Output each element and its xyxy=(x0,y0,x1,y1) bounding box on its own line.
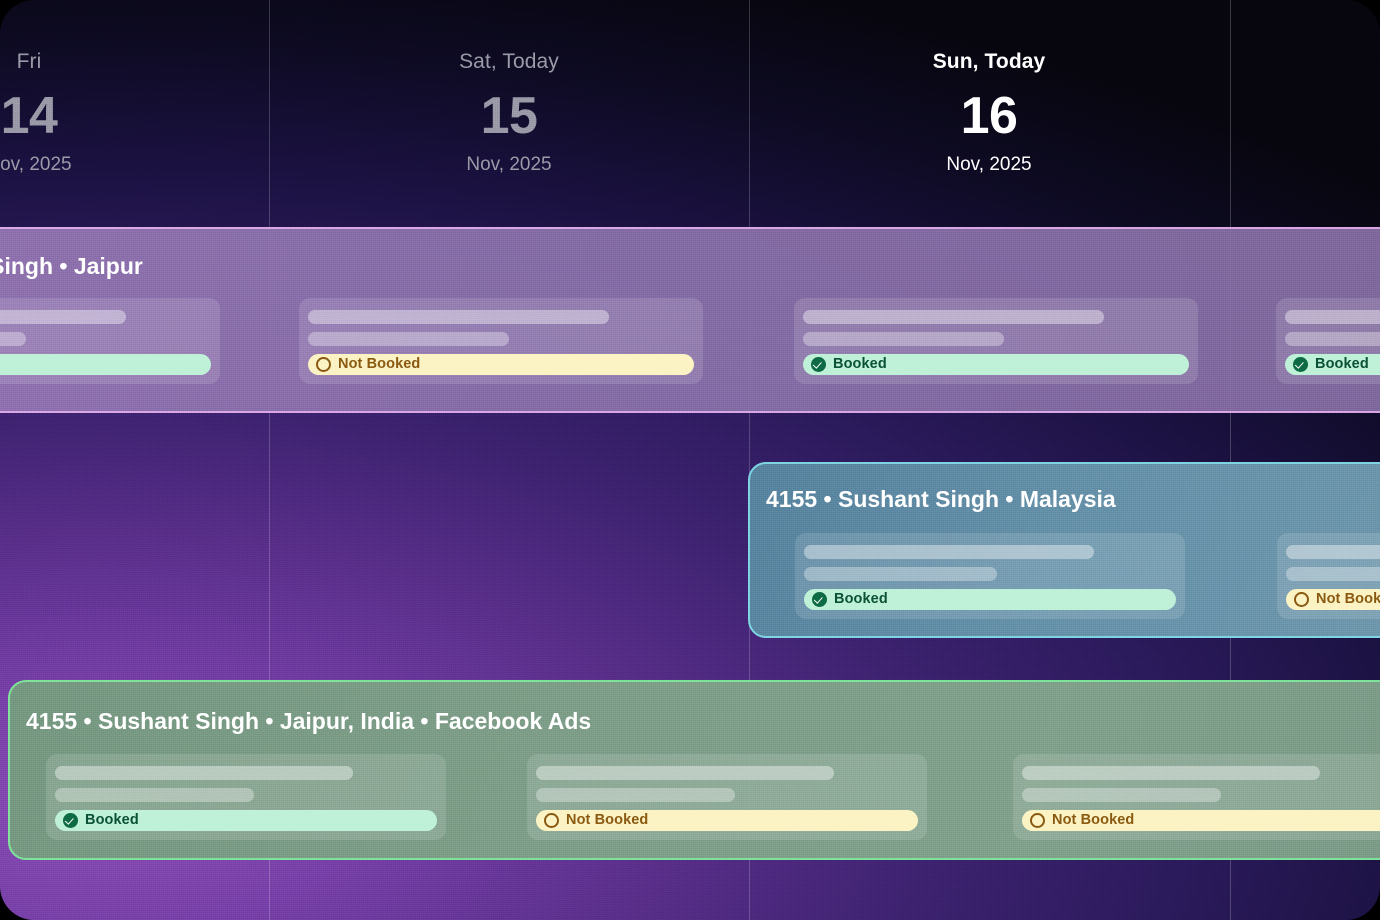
event-title: 4155 • Sushant Singh • Jaipur, India • F… xyxy=(26,708,591,735)
event-slot[interactable]: Booked xyxy=(1276,298,1380,384)
status-badge[interactable]: Booked xyxy=(803,354,1189,375)
day-month-label: Nov, 2025 xyxy=(269,154,749,176)
event-slot[interactable]: Not Booked xyxy=(527,754,927,840)
status-label: Booked xyxy=(833,357,887,372)
event-slot[interactable]: Booked xyxy=(0,298,220,384)
empty-circle-icon xyxy=(1030,813,1045,828)
skeleton-line xyxy=(803,310,1104,324)
day-number: 16 xyxy=(749,90,1229,142)
skeleton-line xyxy=(55,788,254,802)
event-slot[interactable]: Not Booked xyxy=(1277,533,1380,619)
status-label: Not Booked xyxy=(566,813,648,828)
day-number: 14 xyxy=(0,90,269,142)
day-header-row: Fri 14 Nov, 2025 Sat, Today 15 Nov, 2025… xyxy=(0,0,1380,227)
skeleton-line xyxy=(1285,332,1380,346)
status-badge[interactable]: Not Booked xyxy=(1286,589,1380,610)
empty-circle-icon xyxy=(1294,592,1309,607)
event-card-jaipur-facebook-ads[interactable]: 4155 • Sushant Singh • Jaipur, India • F… xyxy=(8,680,1380,860)
day-header-sat-15[interactable]: Sat, Today 15 Nov, 2025 xyxy=(269,0,749,227)
day-month-label: Nov, 2025 xyxy=(749,154,1229,176)
empty-circle-icon xyxy=(316,357,331,372)
status-badge[interactable]: Not Booked xyxy=(308,354,694,375)
status-label: Not Booked xyxy=(338,357,420,372)
skeleton-line xyxy=(1286,545,1380,559)
skeleton-line xyxy=(1022,788,1221,802)
calendar-timeline-canvas: Fri 14 Nov, 2025 Sat, Today 15 Nov, 2025… xyxy=(0,0,1380,920)
day-header-sun-16[interactable]: Sun, Today 16 Nov, 2025 xyxy=(749,0,1229,227)
event-card-malaysia[interactable]: 4155 • Sushant Singh • Malaysia Booked N… xyxy=(748,462,1380,638)
status-label: Not Booked xyxy=(1316,592,1380,607)
day-month-label: Nov, 2025 xyxy=(0,154,269,176)
status-label: Booked xyxy=(85,813,139,828)
event-slot[interactable]: Booked xyxy=(46,754,446,840)
day-dow-label: Fri xyxy=(0,50,269,74)
status-badge[interactable]: Booked xyxy=(55,810,437,831)
skeleton-line xyxy=(803,332,1004,346)
skeleton-line xyxy=(55,766,353,780)
skeleton-line xyxy=(804,567,997,581)
status-badge[interactable]: Booked xyxy=(1285,354,1380,375)
day-dow-label: Sun, Today xyxy=(749,50,1229,74)
skeleton-line xyxy=(0,332,26,346)
status-badge[interactable]: Not Booked xyxy=(536,810,918,831)
skeleton-line xyxy=(536,766,834,780)
status-badge[interactable]: Not Booked xyxy=(1022,810,1380,831)
check-circle-icon xyxy=(811,357,826,372)
day-number: 15 xyxy=(269,90,749,142)
status-label: Not Booked xyxy=(1052,813,1134,828)
skeleton-line xyxy=(804,545,1094,559)
skeleton-line xyxy=(1022,766,1320,780)
event-slot[interactable]: Booked xyxy=(795,533,1185,619)
status-label: Booked xyxy=(834,592,888,607)
status-badge[interactable]: Booked xyxy=(804,589,1176,610)
day-dow-label: Sat, Today xyxy=(269,50,749,74)
day-header-fri-14[interactable]: Fri 14 Nov, 2025 xyxy=(0,0,269,227)
event-slot[interactable]: Not Booked xyxy=(299,298,703,384)
status-badge[interactable]: Booked xyxy=(0,354,211,375)
skeleton-line xyxy=(1285,310,1380,324)
skeleton-line xyxy=(536,788,735,802)
event-slot[interactable]: Not Booked xyxy=(1013,754,1380,840)
skeleton-line xyxy=(308,310,609,324)
skeleton-line xyxy=(1286,567,1380,581)
check-circle-icon xyxy=(63,813,78,828)
skeleton-line xyxy=(308,332,509,346)
check-circle-icon xyxy=(1293,357,1308,372)
status-label: Booked xyxy=(1315,357,1369,372)
event-band-jaipur[interactable]: 4155 • Sushant Singh • Jaipur Booked Not… xyxy=(0,227,1380,413)
event-slot[interactable]: Booked xyxy=(794,298,1198,384)
skeleton-line xyxy=(0,310,126,324)
event-title: 4155 • Sushant Singh • Jaipur xyxy=(0,253,143,280)
empty-circle-icon xyxy=(544,813,559,828)
event-title: 4155 • Sushant Singh • Malaysia xyxy=(766,486,1116,513)
check-circle-icon xyxy=(812,592,827,607)
